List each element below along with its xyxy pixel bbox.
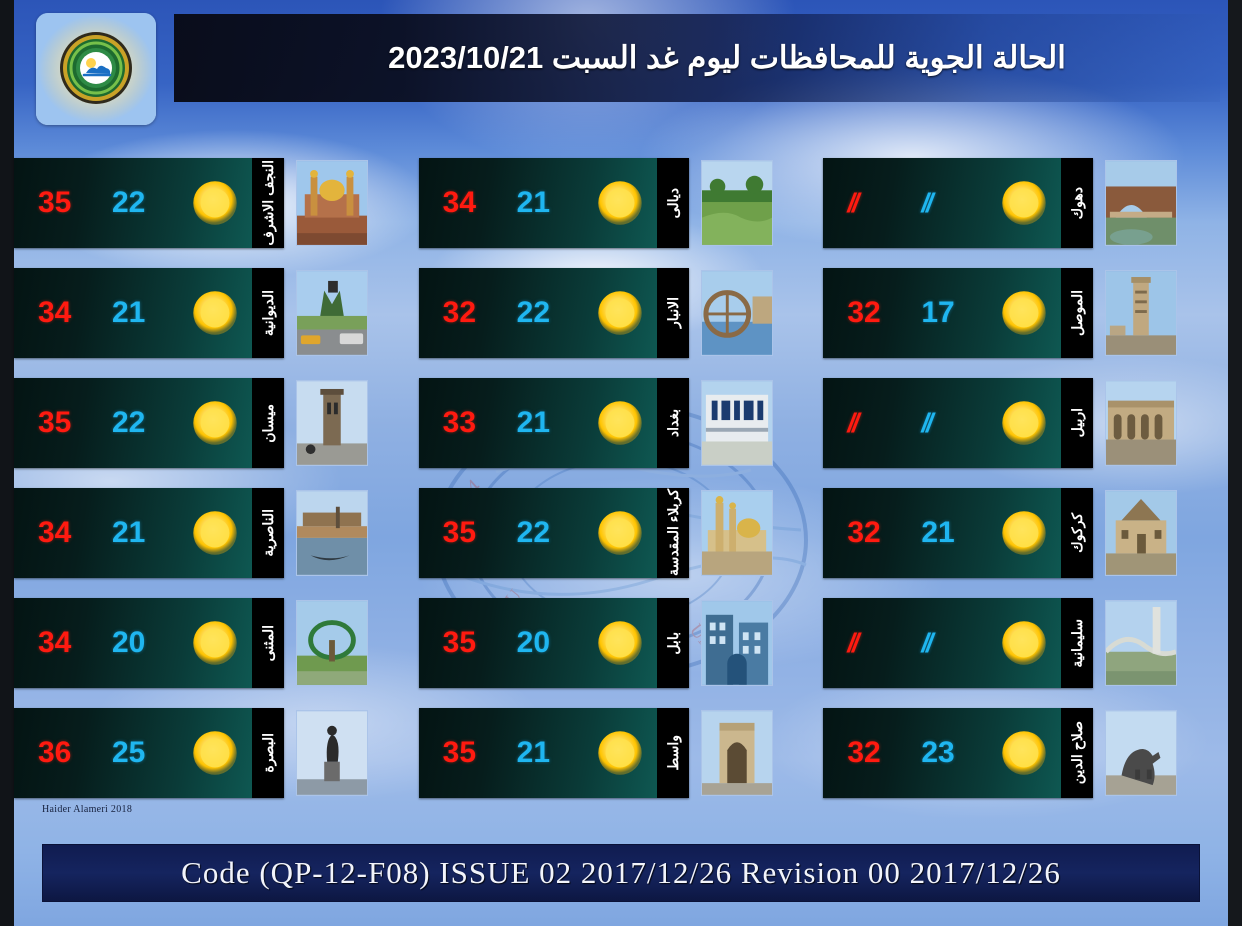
max-temp: 35 bbox=[38, 406, 82, 440]
max-temp: 32 bbox=[847, 516, 891, 550]
temperature-pair: 36 25 bbox=[14, 708, 178, 798]
min-temp: 17 bbox=[921, 296, 965, 330]
landmark-thumbnail bbox=[701, 490, 773, 576]
forecast-grid: 35 22 النجف الاشرف 34 bbox=[14, 152, 1228, 812]
min-temp: 21 bbox=[517, 186, 561, 220]
temperature-pair: 34 21 bbox=[419, 158, 583, 248]
min-temp: 20 bbox=[112, 626, 156, 660]
max-temp: 35 bbox=[443, 736, 487, 770]
city-label-strip: المثنى bbox=[252, 598, 284, 688]
city-label-strip: صلاح الدين bbox=[1061, 708, 1093, 798]
max-temp: 32 bbox=[443, 296, 487, 330]
city-name: اربيل bbox=[1061, 408, 1093, 437]
landmark-thumbnail bbox=[296, 600, 368, 686]
max-temp: 32 bbox=[847, 736, 891, 770]
city-name: بابل bbox=[657, 632, 689, 655]
city-label-strip: الناصرية bbox=[252, 488, 284, 578]
city-name: ميسان bbox=[252, 404, 284, 443]
sun-icon bbox=[987, 268, 1061, 358]
city-label-strip: كركوك bbox=[1061, 488, 1093, 578]
max-temp: // bbox=[847, 628, 891, 659]
forecast-card[interactable]: 35 22 كربلاء المقدسة bbox=[419, 488, 689, 578]
forecast-card[interactable]: // // اربيل bbox=[823, 378, 1093, 468]
forecast-row[interactable]: 34 20 المثنى bbox=[14, 592, 419, 702]
temperature-pair: 33 21 bbox=[419, 378, 583, 468]
author-credit: Haider Alameri 2018 bbox=[42, 804, 132, 815]
sun-icon bbox=[178, 598, 252, 688]
max-temp: 34 bbox=[38, 626, 82, 660]
temperature-pair: 34 20 bbox=[14, 598, 178, 688]
min-temp: // bbox=[921, 628, 965, 659]
min-temp: 22 bbox=[517, 516, 561, 550]
city-label-strip: ميسان bbox=[252, 378, 284, 468]
forecast-row[interactable]: 33 21 بغداد bbox=[419, 372, 824, 482]
forecast-row[interactable]: // // سليمانية bbox=[823, 592, 1228, 702]
city-label-strip: الديوانية bbox=[252, 268, 284, 358]
temperature-pair: 34 21 bbox=[14, 488, 178, 578]
document-code-text: Code (QP-12-F08) ISSUE 02 2017/12/26 Rev… bbox=[181, 855, 1061, 891]
city-label-strip: الموصل bbox=[1061, 268, 1093, 358]
min-temp: 21 bbox=[517, 406, 561, 440]
max-temp: 34 bbox=[38, 516, 82, 550]
city-label-strip: النجف الاشرف bbox=[252, 158, 284, 248]
sun-icon bbox=[987, 378, 1061, 468]
max-temp: 35 bbox=[443, 626, 487, 660]
min-temp: 21 bbox=[112, 296, 156, 330]
forecast-card[interactable]: 32 21 كركوك bbox=[823, 488, 1093, 578]
city-label-strip: سليمانية bbox=[1061, 598, 1093, 688]
sun-icon bbox=[178, 158, 252, 248]
temperature-pair: // // bbox=[823, 158, 987, 248]
forecast-card[interactable]: 35 21 واسط bbox=[419, 708, 689, 798]
city-name: سليمانية bbox=[1061, 619, 1093, 668]
sun-icon bbox=[178, 708, 252, 798]
sun-icon bbox=[178, 378, 252, 468]
temperature-pair: 35 21 bbox=[419, 708, 583, 798]
temperature-pair: 32 22 bbox=[419, 268, 583, 358]
temperature-pair: 35 22 bbox=[14, 158, 178, 248]
landmark-thumbnail bbox=[701, 160, 773, 246]
temperature-pair: 32 21 bbox=[823, 488, 987, 578]
city-name: الانبار bbox=[657, 297, 689, 328]
forecast-card[interactable]: 35 22 ميسان bbox=[14, 378, 284, 468]
min-temp: 22 bbox=[112, 406, 156, 440]
landmark-thumbnail bbox=[296, 160, 368, 246]
city-label-strip: ديالى bbox=[657, 158, 689, 248]
min-temp: 21 bbox=[517, 736, 561, 770]
forecast-card[interactable]: 32 17 الموصل bbox=[823, 268, 1093, 358]
forecast-row[interactable]: 32 22 الانبار bbox=[419, 262, 824, 372]
city-name: الموصل bbox=[1061, 290, 1093, 336]
sun-icon bbox=[583, 378, 657, 468]
forecast-card[interactable]: 34 20 المثنى bbox=[14, 598, 284, 688]
landmark-thumbnail bbox=[701, 270, 773, 356]
forecast-card[interactable]: 32 22 الانبار bbox=[419, 268, 689, 358]
city-label-strip: البصرة bbox=[252, 708, 284, 798]
sun-icon bbox=[178, 268, 252, 358]
footer-bar: Code (QP-12-F08) ISSUE 02 2017/12/26 Rev… bbox=[42, 844, 1200, 902]
min-temp: 22 bbox=[517, 296, 561, 330]
forecast-column-north: // // دهوك 32 bbox=[823, 152, 1228, 812]
sun-icon bbox=[987, 488, 1061, 578]
landmark-thumbnail bbox=[296, 270, 368, 356]
landmark-thumbnail bbox=[1105, 380, 1177, 466]
max-temp: 35 bbox=[38, 186, 82, 220]
city-name: الناصرية bbox=[252, 509, 284, 557]
city-name: دهوك bbox=[1061, 187, 1093, 219]
max-temp: // bbox=[847, 408, 891, 439]
city-name: بغداد bbox=[657, 409, 689, 437]
forecast-card[interactable]: 34 21 الناصرية bbox=[14, 488, 284, 578]
forecast-row[interactable]: // // دهوك bbox=[823, 152, 1228, 262]
temperature-pair: 34 21 bbox=[14, 268, 178, 358]
forecast-row[interactable]: 35 22 كربلاء المقدسة bbox=[419, 482, 824, 592]
landmark-thumbnail bbox=[701, 710, 773, 796]
max-temp: 34 bbox=[38, 296, 82, 330]
forecast-card[interactable]: 34 21 ديالى bbox=[419, 158, 689, 248]
forecast-card[interactable]: 35 22 النجف الاشرف bbox=[14, 158, 284, 248]
city-name: كركوك bbox=[1061, 513, 1093, 553]
sun-icon bbox=[583, 268, 657, 358]
forecast-row[interactable]: 32 21 كركوك bbox=[823, 482, 1228, 592]
landmark-thumbnail bbox=[701, 600, 773, 686]
sun-icon bbox=[583, 708, 657, 798]
max-temp: // bbox=[847, 188, 891, 219]
forecast-row[interactable]: 32 17 الموصل bbox=[823, 262, 1228, 372]
city-label-strip: بغداد bbox=[657, 378, 689, 468]
forecast-card[interactable]: 33 21 بغداد bbox=[419, 378, 689, 468]
landmark-thumbnail bbox=[296, 380, 368, 466]
forecast-card[interactable]: 34 21 الديوانية bbox=[14, 268, 284, 358]
city-label-strip: واسط bbox=[657, 708, 689, 798]
temperature-pair: 32 17 bbox=[823, 268, 987, 358]
landmark-thumbnail bbox=[296, 490, 368, 576]
min-temp: 20 bbox=[517, 626, 561, 660]
forecast-column-central: 34 21 ديالى 32 bbox=[419, 152, 824, 812]
landmark-thumbnail bbox=[1105, 710, 1177, 796]
forecast-column-south: 35 22 النجف الاشرف 34 bbox=[14, 152, 419, 812]
city-label-strip: بابل bbox=[657, 598, 689, 688]
landmark-thumbnail bbox=[701, 380, 773, 466]
city-name: كربلاء المقدسة bbox=[657, 489, 689, 576]
forecast-row[interactable]: 35 20 بابل bbox=[419, 592, 824, 702]
city-name: النجف الاشرف bbox=[252, 160, 284, 246]
forecast-card[interactable]: 32 23 صلاح الدين bbox=[823, 708, 1093, 798]
forecast-row[interactable]: 34 21 ديالى bbox=[419, 152, 824, 262]
frame-bar-right bbox=[1228, 0, 1242, 926]
max-temp: 35 bbox=[443, 516, 487, 550]
city-label-strip: كربلاء المقدسة bbox=[657, 488, 689, 578]
forecast-row[interactable]: 32 23 صلاح الدين bbox=[823, 702, 1228, 812]
min-temp: 21 bbox=[112, 516, 156, 550]
city-label-strip: الانبار bbox=[657, 268, 689, 358]
landmark-thumbnail bbox=[1105, 490, 1177, 576]
city-name: ديالى bbox=[657, 188, 689, 218]
landmark-thumbnail bbox=[1105, 160, 1177, 246]
sun-icon bbox=[583, 158, 657, 248]
forecast-row[interactable]: 34 21 الديوانية bbox=[14, 262, 419, 372]
min-temp: 23 bbox=[921, 736, 965, 770]
city-name: واسط bbox=[657, 735, 689, 771]
sun-icon bbox=[987, 708, 1061, 798]
landmark-thumbnail bbox=[1105, 600, 1177, 686]
min-temp: 21 bbox=[921, 516, 965, 550]
landmark-thumbnail bbox=[296, 710, 368, 796]
landmark-thumbnail bbox=[1105, 270, 1177, 356]
frame-bar-left bbox=[0, 0, 14, 926]
sun-icon bbox=[583, 598, 657, 688]
forecast-row[interactable]: 35 22 النجف الاشرف bbox=[14, 152, 419, 262]
min-temp: // bbox=[921, 188, 965, 219]
temperature-pair: 35 22 bbox=[14, 378, 178, 468]
city-label-strip: دهوك bbox=[1061, 158, 1093, 248]
city-name: المثنى bbox=[252, 625, 284, 661]
min-temp: // bbox=[921, 408, 965, 439]
temperature-pair: // // bbox=[823, 598, 987, 688]
city-name: الديوانية bbox=[252, 290, 284, 336]
forecast-card[interactable]: 36 25 البصرة bbox=[14, 708, 284, 798]
forecast-row[interactable]: 34 21 الناصرية bbox=[14, 482, 419, 592]
forecast-board: R4 G HOU UN & bbox=[0, 0, 1242, 926]
temperature-pair: 32 23 bbox=[823, 708, 987, 798]
temperature-pair: // // bbox=[823, 378, 987, 468]
city-label-strip: اربيل bbox=[1061, 378, 1093, 468]
sun-icon bbox=[178, 488, 252, 578]
city-name: صلاح الدين bbox=[1061, 721, 1093, 784]
max-temp: 34 bbox=[443, 186, 487, 220]
sun-icon bbox=[583, 488, 657, 578]
max-temp: 33 bbox=[443, 406, 487, 440]
sun-icon bbox=[987, 598, 1061, 688]
max-temp: 36 bbox=[38, 736, 82, 770]
forecast-card[interactable]: // // دهوك bbox=[823, 158, 1093, 248]
forecast-row[interactable]: 35 22 ميسان bbox=[14, 372, 419, 482]
min-temp: 22 bbox=[112, 186, 156, 220]
temperature-pair: 35 20 bbox=[419, 598, 583, 688]
temperature-pair: 35 22 bbox=[419, 488, 583, 578]
forecast-row[interactable]: 36 25 البصرة bbox=[14, 702, 419, 812]
city-name: البصرة bbox=[252, 733, 284, 773]
max-temp: 32 bbox=[847, 296, 891, 330]
forecast-card[interactable]: 35 20 بابل bbox=[419, 598, 689, 688]
forecast-row[interactable]: // // اربيل bbox=[823, 372, 1228, 482]
min-temp: 25 bbox=[112, 736, 156, 770]
sun-icon bbox=[987, 158, 1061, 248]
forecast-card[interactable]: // // سليمانية bbox=[823, 598, 1093, 688]
forecast-row[interactable]: 35 21 واسط bbox=[419, 702, 824, 812]
